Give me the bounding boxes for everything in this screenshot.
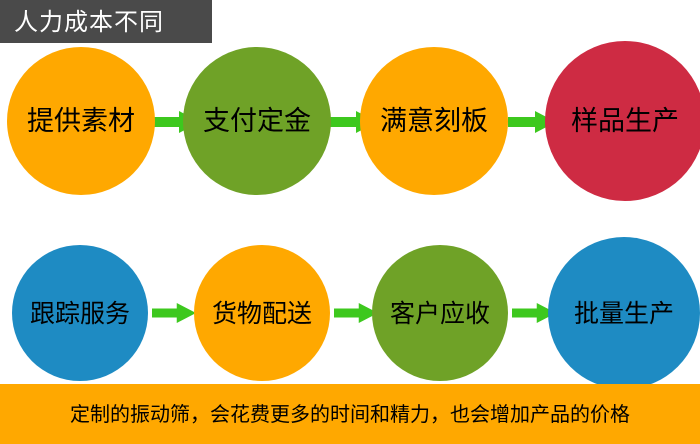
flow-node-label: 批量生产 xyxy=(574,301,674,326)
flow-node-label: 货物配送 xyxy=(212,301,312,326)
diagram-canvas: 人力成本不同 提供素材支付定金满意刻板样品生产 跟踪服务货物配送客户应收批量生产… xyxy=(0,0,700,444)
flow-row-2: 跟踪服务货物配送客户应收批量生产 xyxy=(0,236,700,382)
flow-node-label: 提供素材 xyxy=(27,108,135,135)
flow-node[interactable]: 客户应收 xyxy=(372,245,508,381)
flow-node[interactable]: 满意刻板 xyxy=(360,47,508,195)
flow-node-label: 支付定金 xyxy=(203,108,311,135)
flow-node-label: 样品生产 xyxy=(571,108,679,135)
flow-node-label: 客户应收 xyxy=(390,301,490,326)
footer-text: 定制的振动筛，会花费更多的时间和精力，也会增加产品的价格 xyxy=(70,404,630,424)
header-tag: 人力成本不同 xyxy=(0,0,212,43)
flow-node[interactable]: 支付定金 xyxy=(183,47,331,195)
flow-node[interactable]: 批量生产 xyxy=(548,237,700,389)
flow-node-label: 满意刻板 xyxy=(380,108,488,135)
flow-arrow-right-icon xyxy=(152,303,196,323)
flow-node[interactable]: 跟踪服务 xyxy=(12,245,148,381)
flow-node[interactable]: 样品生产 xyxy=(545,41,700,201)
flow-node-label: 跟踪服务 xyxy=(30,301,130,326)
flow-row-1: 提供素材支付定金满意刻板样品生产 xyxy=(0,46,700,196)
flow-node[interactable]: 货物配送 xyxy=(194,245,330,381)
footer-banner: 定制的振动筛，会花费更多的时间和精力，也会增加产品的价格 xyxy=(0,384,700,444)
header-title: 人力成本不同 xyxy=(14,10,164,34)
flow-node[interactable]: 提供素材 xyxy=(7,47,155,195)
